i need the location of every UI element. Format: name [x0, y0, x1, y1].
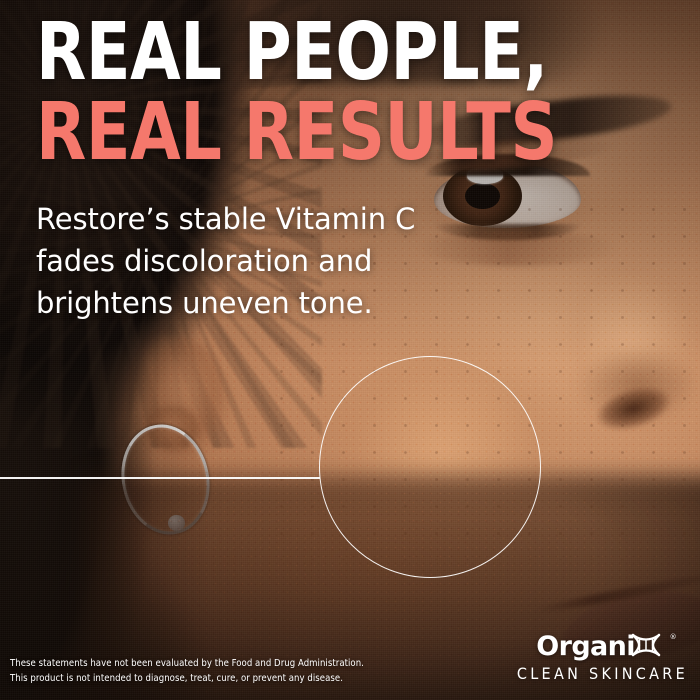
logo-wordmark: Organixx ® — [536, 633, 668, 660]
advertisement-canvas: REAL PEOPLE, REAL RESULTS Restore’s stab… — [0, 0, 700, 700]
brand-logo[interactable]: Organixx ® CLEAN SKINCARE — [517, 633, 688, 682]
logo-tagline: CLEAN SKINCARE — [517, 666, 688, 682]
fda-disclaimer: These statements have not been evaluated… — [10, 656, 364, 686]
headline-line-1: REAL PEOPLE, — [36, 22, 557, 84]
callout-circle — [319, 356, 541, 578]
disclaimer-line-2: This product is not intended to diagnose… — [10, 671, 364, 686]
logo-helix-letters: xx — [635, 631, 669, 662]
subcopy-line-3: brightens uneven tone. — [36, 282, 415, 324]
subcopy-line-2: fades discoloration and — [36, 240, 415, 282]
disclaimer-line-1: These statements have not been evaluated… — [10, 656, 364, 671]
headline: REAL PEOPLE, REAL RESULTS — [36, 22, 602, 163]
registered-trademark-icon: ® — [670, 634, 677, 641]
callout-leader-line — [0, 477, 320, 479]
logo-wordmark-text: Organi — [536, 631, 635, 662]
headline-line-2: REAL RESULTS — [36, 102, 557, 164]
subcopy-line-1: Restore’s stable Vitamin C — [36, 198, 415, 240]
subcopy: Restore’s stable Vitamin C fades discolo… — [36, 198, 415, 324]
